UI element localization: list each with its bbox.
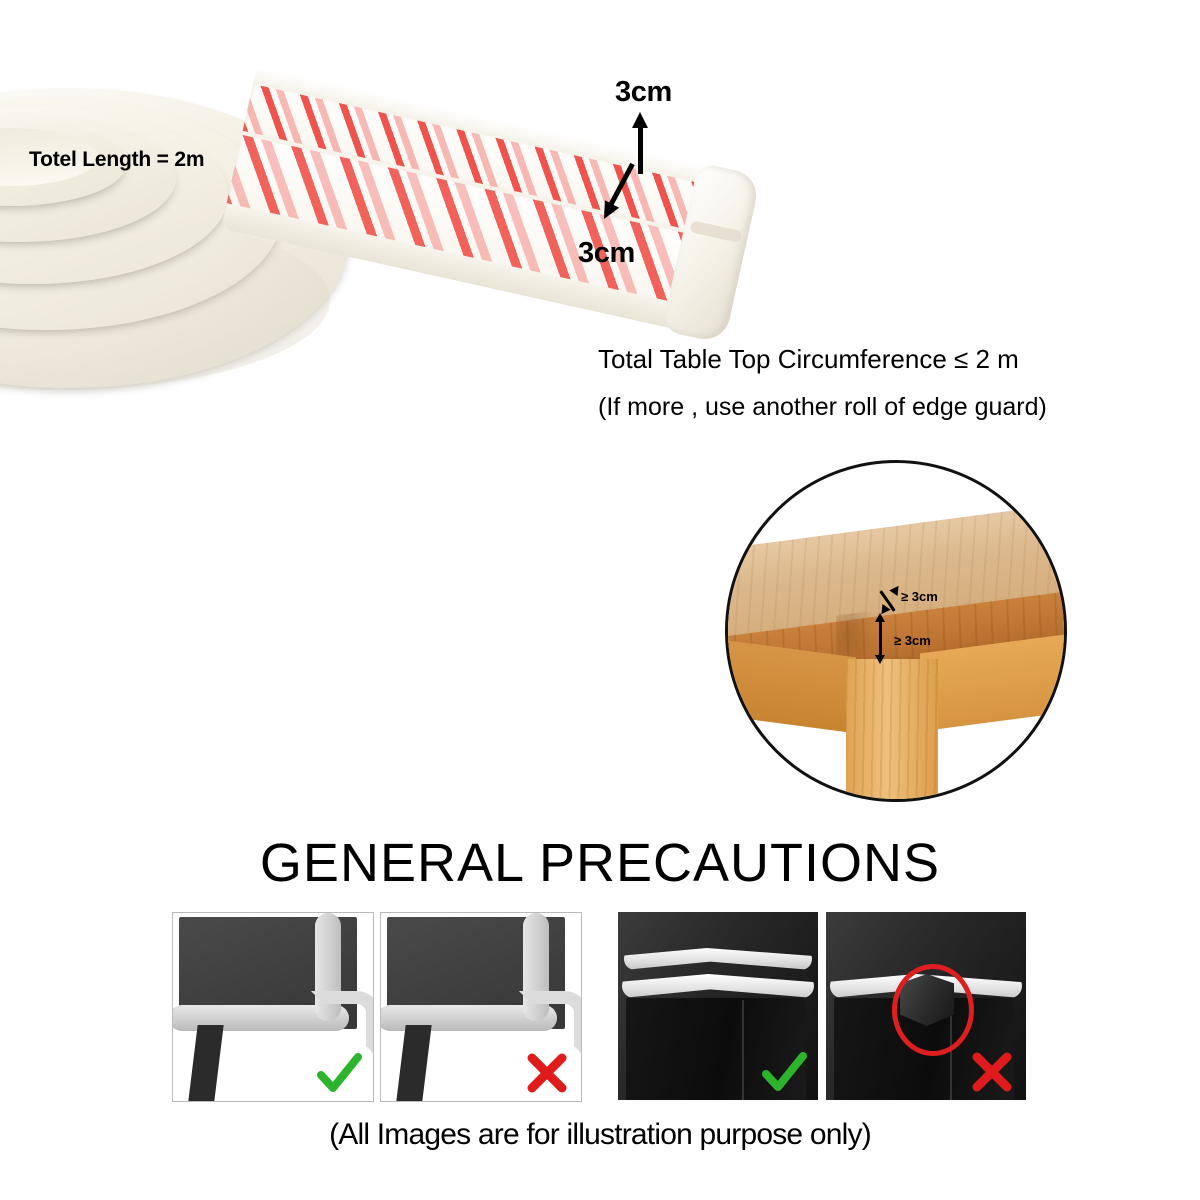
precaution-panel-correct xyxy=(618,912,818,1100)
table-leg xyxy=(846,659,938,802)
green-check-icon xyxy=(315,1049,363,1097)
cabinet-seam-line xyxy=(742,1000,744,1100)
dimension-label-top: 3cm xyxy=(615,76,672,109)
precaution-panel-incorrect xyxy=(826,912,1026,1100)
circumference-line-2: (If more , use another roll of edge guar… xyxy=(598,388,1178,426)
table-thickness-label: ≥ 3cm xyxy=(901,589,938,604)
dimension-arrow-diagonal-icon xyxy=(600,160,670,230)
table-leg-dark xyxy=(188,1025,223,1101)
precaution-group-table-edge xyxy=(172,912,580,1102)
table-edge-label: ≥ 3cm xyxy=(894,633,931,648)
red-highlight-circle-icon xyxy=(892,964,974,1056)
circumference-line-1: Total Table Top Circumference ≤ 2 m xyxy=(598,340,1178,378)
precaution-panel-correct xyxy=(172,912,374,1102)
precaution-panel-incorrect xyxy=(380,912,582,1102)
red-cross-icon xyxy=(523,1049,571,1097)
table-apron-left xyxy=(728,641,856,734)
green-check-icon xyxy=(760,1048,808,1096)
precautions-footnote: (All Images are for illustration purpose… xyxy=(0,1118,1200,1152)
edge-height-arrow-icon xyxy=(874,615,888,663)
red-cross-icon xyxy=(968,1048,1016,1096)
table-leg-dark xyxy=(396,1025,431,1101)
dimension-label-bottom: 3cm xyxy=(578,237,635,270)
precautions-heading: GENERAL PRECAUTIONS xyxy=(0,832,1200,894)
thickness-arrow-diagonal-icon xyxy=(874,587,902,615)
table-corner-photo-circle: ≥ 3cm ≥ 3cm xyxy=(725,460,1067,802)
precautions-examples-row xyxy=(0,912,1200,1102)
total-length-label: Totel Length = 2m xyxy=(29,148,204,172)
circumference-note: Total Table Top Circumference ≤ 2 m (If … xyxy=(598,340,1178,426)
precaution-group-cabinet-corner xyxy=(618,912,1026,1102)
